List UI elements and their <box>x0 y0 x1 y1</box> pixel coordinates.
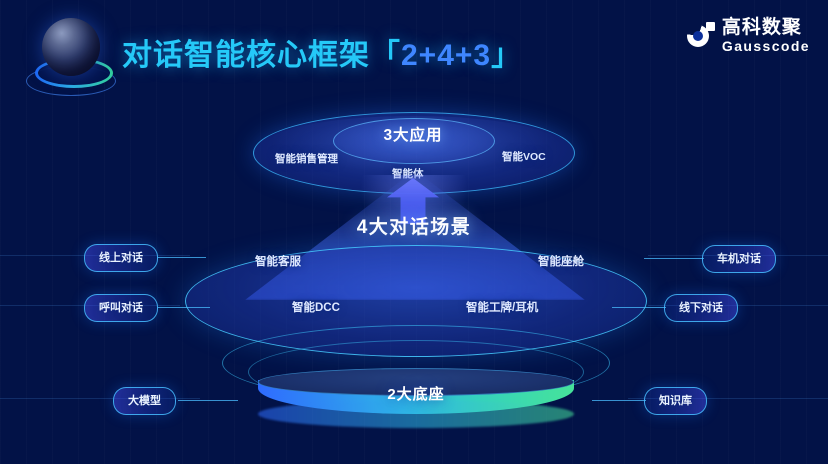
sphere-ball-icon <box>42 18 100 76</box>
connector-knowledge-base <box>592 400 646 401</box>
pill-knowledge-base[interactable]: 知识库 <box>644 387 707 415</box>
base-layer-title: 2大底座 <box>258 383 574 404</box>
middle-label-cockpit: 智能座舱 <box>538 253 584 269</box>
brand-name-cn: 高科数聚 <box>722 18 810 37</box>
middle-label-badge-headset: 智能工牌/耳机 <box>466 299 538 315</box>
top-label-voc: 智能VOC <box>502 149 546 164</box>
middle-layer-title: 4大对话场景 <box>0 212 828 239</box>
connector-vehicle-dialogue <box>644 258 704 259</box>
page-title: 对话智能核心框架「2+4+3」 <box>122 30 522 74</box>
pill-vehicle-dialogue[interactable]: 车机对话 <box>702 245 776 273</box>
slide-canvas: 对话智能核心框架「2+4+3」 高科数聚 Gausscode 3大应用 智能销售… <box>0 0 828 464</box>
base-cylinder-bottom-edge <box>258 400 574 428</box>
pill-online-dialogue[interactable]: 线上对话 <box>84 244 158 272</box>
gausscode-mark-icon <box>687 22 715 50</box>
top-label-sales: 智能销售管理 <box>275 151 338 166</box>
middle-label-dcc: 智能DCC <box>292 299 340 315</box>
top-layer-title: 3大应用 <box>333 123 493 145</box>
middle-label-customer-service: 智能客服 <box>255 253 301 269</box>
brand-logo: 高科数聚 Gausscode <box>687 18 810 53</box>
page-title-prefix: 对话智能核心框架「 <box>122 39 401 72</box>
pill-large-model[interactable]: 大模型 <box>113 387 176 415</box>
connector-offline-dialogue <box>612 307 666 308</box>
sphere-logo-icon <box>26 14 114 102</box>
page-title-number: 2+4+3 <box>401 39 491 72</box>
pill-offline-dialogue[interactable]: 线下对话 <box>664 294 738 322</box>
page-title-suffix: 」 <box>491 39 522 72</box>
connector-online-dialogue <box>158 257 206 258</box>
connector-large-model <box>178 400 238 401</box>
pill-call-dialogue[interactable]: 呼叫对话 <box>84 294 158 322</box>
connector-call-dialogue <box>158 307 210 308</box>
brand-name-en: Gausscode <box>722 39 810 53</box>
